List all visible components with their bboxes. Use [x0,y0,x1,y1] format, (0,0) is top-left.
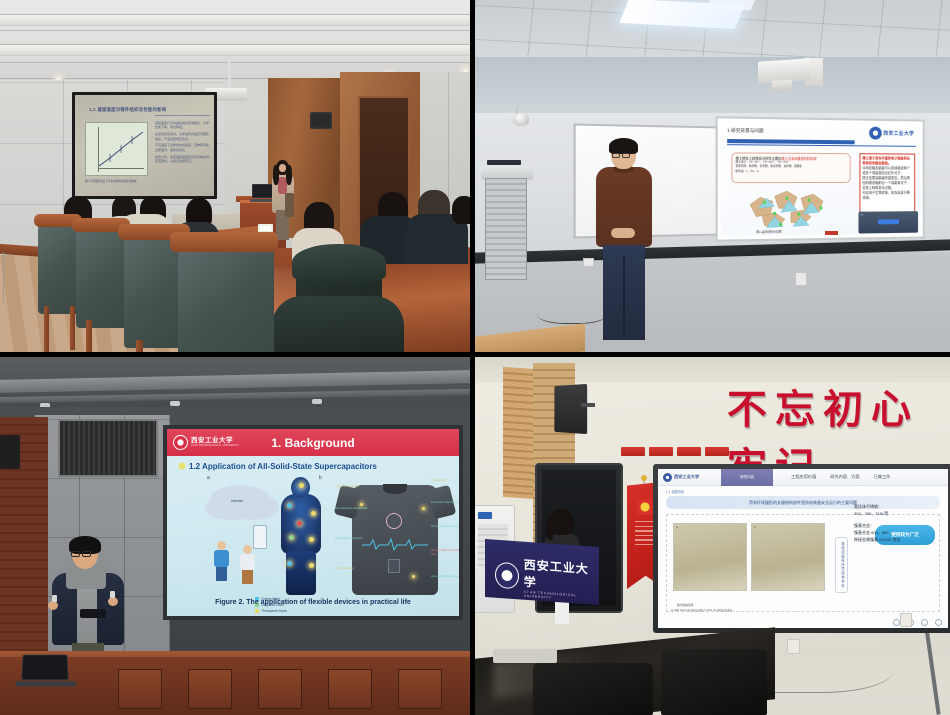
nav-tab[interactable]: 工程应用价值 [791,474,816,480]
document-on-table [493,649,557,663]
photo-collage: 1.2 凝固温度对铸件组织及性能的影响 图1 不同凝固温度下合金试样的性能变化曲… [0,0,950,715]
right-panel-line: 稀土离子具有丰富的电子能级和长寿命的亚稳态能级。 [862,156,912,166]
university-logo: 西安工业大学 [869,127,914,140]
university-name: 西安工业大学 [674,474,699,480]
title-underline [727,144,916,147]
slide-right-panel: 稀土离子具有丰富的电子能级和长寿命的亚稳态能级。 中间亚稳态能级可以连续吸收两个… [859,153,915,218]
shirt-label: Transmitter [431,479,459,483]
right-panel-line: 跃迁至更高能级的激发态，然后再回到基态辐射出一个高能量光子， [862,176,912,186]
stage-panel [328,669,372,709]
chair-leg [136,340,143,352]
slide-bullet: 凝固温度升高时晶粒组织逐渐粗化，力学性能下降，韧性降低。 [155,121,210,130]
chair-armrest [170,232,278,252]
shirt-label: Accelerometers [337,485,377,489]
university-logo: 西安工业大学 [663,473,699,482]
shirt-label: Acoustic Power Devices [431,575,459,579]
university-name-block: 西安工业大学 XI'AN TECHNOLOGICAL UNIVERSITY [524,556,599,603]
photo-caption: 图 核电站现场 [677,603,693,607]
stage-panel [398,669,442,709]
photo-b: b [751,523,825,591]
undo-icon[interactable] [921,619,928,626]
ceiling-spotlight [170,401,180,406]
projection-screen: 1.2 凝固温度对铸件组织及性能的影响 图1 不同凝固温度下合金试样的性能变化曲… [72,92,217,199]
callout-highlight: 稀土元素和基质材料构成 [781,156,816,160]
wall-outlet[interactable] [795,272,807,286]
conference-chair[interactable] [178,238,274,352]
shirt-label: Touch Point Sensing [431,525,459,529]
wall-speaker-icon [310,112,332,129]
node-dot [422,507,425,510]
crystal-structure-figure [744,186,841,229]
presenter-face [279,164,286,172]
material-line: 镍基合金 600、690 [854,529,942,536]
node-dot [297,521,302,526]
conference-chair[interactable] [38,218,80,314]
presenter-hands [611,228,635,238]
wall-outlet[interactable] [787,639,800,654]
material-line: 焊接金属镍基 52/152 合金 [854,536,942,543]
whiteboard-tray-marker [825,231,838,235]
projected-slide-area: 1 研究背景与问题 西安工业大学 稀土掺杂上转换发光材料主要由稀土元素和基质材料… [716,116,925,241]
popup-text: ••• [860,213,916,216]
presenter-hand [108,597,118,606]
slide-header-bar: 西安工业大学 XI'AN TECHNOLOGICAL UNIVERSITY 1.… [167,429,459,456]
slide-bullets: 凝固温度升高时晶粒组织逐渐粗化，力学性能下降，韧性降低。 在适当的区间内，冷却速… [155,121,210,166]
pen-icon[interactable] [893,619,900,626]
ac-brand-badge [478,512,492,519]
presenter-clicker [52,595,57,602]
university-emblem-icon [495,562,519,590]
ceiling-light [705,0,756,10]
sensor-ring [386,513,402,529]
panel-meeting-room: 不忘初心 牢记 入党誓词 [475,357,950,715]
mini-banner [649,447,673,456]
photo-subcaption: a) 1986 年切尔诺贝利核电事故 b) 2011 年日本福岛核事故 [671,608,732,612]
legend-label: Therapeutic Node [262,609,287,613]
slide-bullet: 在适当的区间内，冷却速率的提高可细化组织，产品性能明显改善。 [155,132,210,141]
slide-header-title: 1. Background [167,436,459,450]
section-title-text: 1.2 Application of All-Solid-State Super… [189,462,377,471]
stage-panel [118,669,162,709]
shoulder-bag [285,193,294,217]
right-panel-line: 可应用于生物成像、防伪及显示等领域。 [862,191,912,201]
shirt-label: Computation Control Unit [431,549,459,557]
figure-caption: 图1 晶体结构示意图 [756,230,781,234]
ceiling-spotlight [312,399,322,404]
human-body-figure [275,477,327,597]
university-emblem-icon [869,127,882,140]
slide-chart [85,122,148,176]
popup-confirm-button[interactable] [878,219,899,224]
right-panel-line: 中间亚稳态能级可以连续吸收两个或多个低能量的近红外光子， [862,166,912,176]
internet-cloud-icon: Internet [209,485,271,519]
ceiling-beam [0,44,470,56]
system-popup-dialog[interactable]: ••• [858,211,918,233]
slide-surface: 1 研究背景与问题 西安工业大学 稀土掺杂上转换发光材料主要由稀土元素和基质材料… [721,121,920,236]
display-screen[interactable]: 西安工业大学 研究内容 工程应用价值 研究内容、方案 已做工作 1.1 选题背景… [658,469,948,628]
mini-banner [621,447,645,456]
banner-text: 苛刻环境服役的关键结构部件是核电装备安全运行的主要问题 [749,500,857,506]
mini-banner [705,447,729,456]
waist-pouch [80,609,106,618]
node-dot [309,563,314,568]
node-dot [299,483,304,488]
node-dot [287,561,292,566]
shirt-label: Pressure Monitoring [431,501,459,505]
slide-bullet: 综合分析，最佳凝固温度区间应控制在特定范围内，以保证性能稳定。 [155,155,210,164]
person-icon [213,541,229,581]
wall-mini-banners [621,447,729,456]
audience-shoulders [272,296,404,352]
presenter-hair [609,138,638,154]
nav-tab[interactable]: 已做工作 [874,474,891,480]
eyeglasses-lens [82,551,91,557]
mini-banner [677,447,701,456]
shirt-label: Drug Delivery [335,567,369,571]
slide-topbar: 西安工业大学 研究内容 工程应用价值 研究内容、方案 已做工作 [658,469,948,486]
ceiling-seam [0,30,470,31]
presenter-hair [273,165,279,185]
stage-panel [258,669,302,709]
slide-section-title: 1.2 Application of All-Solid-State Super… [179,462,377,471]
cloud-label: Internet [231,499,243,503]
photo-label-b: b [754,525,756,529]
wall-upper-band [475,57,950,113]
eyeglasses-lens [612,153,620,158]
wall-slogan: 不忘初心 牢记 [727,371,937,437]
legend-entry: Therapeutic Node [255,609,287,613]
slide-surface: 西安工业大学 XI'AN TECHNOLOGICAL UNIVERSITY 1.… [167,429,459,616]
presenter-hair [546,518,554,540]
speaker-bracket [581,403,595,407]
panel-classroom: 1 研究背景与问题 西安工业大学 稀土掺杂上转换发光材料主要由稀土元素和基质材料… [475,0,950,352]
active-section-chip[interactable]: 研究内容 [721,469,773,486]
node-dot [311,511,316,516]
projection-screen: 西安工业大学 XI'AN TECHNOLOGICAL UNIVERSITY 1.… [163,425,463,620]
wall-projector-icon [758,58,810,84]
presenter-clicker [110,591,115,598]
divider [155,115,210,116]
control-unit [388,559,400,573]
eyeglasses-lens [71,551,80,557]
person-icon [239,545,255,585]
chair-leg [70,306,75,350]
baseball-cap [292,244,386,282]
university-name-cn: 西安工业大学 [524,556,599,595]
shirt-label: Respiration Sensors [335,537,369,541]
wall-speaker-icon [0,435,20,469]
air-vent-grille [58,419,158,477]
material-line: 304、306、316L等 [854,510,942,517]
chart-line-series [99,130,144,168]
slide-bullet: 不同温度下试样的抗拉强度、延伸率存在显著差异，需综合优化。 [155,143,210,152]
equipment-rack [485,178,527,280]
chair-leg [44,306,49,352]
shirt-label: Temperature Electrodes [335,507,369,511]
chair-leg [86,320,92,352]
nav-tab[interactable]: 研究内容、方案 [830,474,859,480]
slide-title: 1 研究背景与问题 [727,128,764,135]
floor-cable [537,300,607,324]
node-dot [289,535,294,540]
projector-mount [228,62,231,90]
node-dot [287,503,292,508]
wall-outlet[interactable] [900,613,912,627]
ceiling-beam [0,14,470,26]
material-list: 奥氏体不锈钢： 304、306、316L等 镍基合金： 镍基合金 600、690… [854,503,942,543]
figure-caption: Figure 2. The application of flexible de… [167,599,459,606]
keyboard-on-rack [487,160,521,165]
material-line: 奥氏体不锈钢： [854,503,942,510]
photo-a: a [673,523,747,591]
panel-conference-room: 1.2 凝固温度对铸件组织及性能的影响 图1 不同凝固温度下合金试样的性能变化曲… [0,0,470,352]
slide-callout-box: 稀土掺杂上转换发光材料主要由稀土元素和基质材料构成 稀土离子：Yb³⁺/Er³⁺… [731,152,850,183]
presenter-laptop-icon[interactable] [21,655,68,680]
vertical-category-label: 核电站服役环境结构材料 [835,537,848,593]
podium-banner: 西安工业大学 XI'AN TECHNOLOGICAL UNIVERSITY [485,539,599,605]
node-dot [412,575,415,578]
meeting-chair[interactable] [661,649,767,715]
stage-panel [188,669,232,709]
chart-caption: 图1 不同凝固温度下合金试样的性能变化曲线 [85,179,136,183]
subfigure-label-a: a [207,475,210,481]
title-accent-bar [727,139,854,144]
settings-gear-icon[interactable] [935,619,942,626]
ceiling-seam [0,62,470,63]
node-dot [309,537,314,542]
meeting-chair[interactable] [533,663,653,715]
university-logo: 西安工业大学 XI'AN TECHNOLOGICAL UNIVERSITY [495,554,599,603]
jeans-seam [623,255,625,340]
university-name: 西安工业大学 [883,130,914,137]
slide-nav-tabs: 工程应用价值 研究内容、方案 已做工作 [791,474,890,480]
wall-speaker-icon [554,384,587,434]
tshirt-collar [383,484,407,494]
ecg-waveform [362,537,428,551]
chart-x-axis [98,168,144,169]
eyeglasses-lens [622,153,630,158]
hammer-and-sickle-icon [637,499,653,515]
audience-head [452,196,470,224]
ceiling-camera-icon [513,113,529,126]
presenter-hair [286,165,292,185]
university-emblem-icon [663,473,672,482]
slide-subtitle: 1.1 选题背景 [666,489,684,494]
wall-outlet[interactable] [583,258,594,267]
material-line: 镍基合金： [854,522,942,529]
slide-title: 1.2 凝固温度对铸件组织及性能的影响 [89,107,204,113]
callout-detail: 纳米晶：L、Na、Li [736,169,847,173]
chip-label: 研究内容 [740,475,754,480]
body-legs [286,551,316,595]
smart-display[interactable]: 西安工业大学 研究内容 工程应用价值 研究内容、方案 已做工作 1.1 选题背景… [653,464,950,633]
bullet-icon [179,463,185,469]
slide-surface: 1.2 凝固温度对铸件组织及性能的影响 图1 不同凝固温度下合金试样的性能变化曲… [75,95,214,196]
smartphone-icon [253,525,267,549]
presenter-hand [48,601,58,610]
panel-lecture-hall: 西安工业大学 XI'AN TECHNOLOGICAL UNIVERSITY 1.… [0,357,470,715]
legend-swatch [255,609,259,613]
photo-label-a: a [676,525,678,529]
floor-cable [3,252,5,304]
